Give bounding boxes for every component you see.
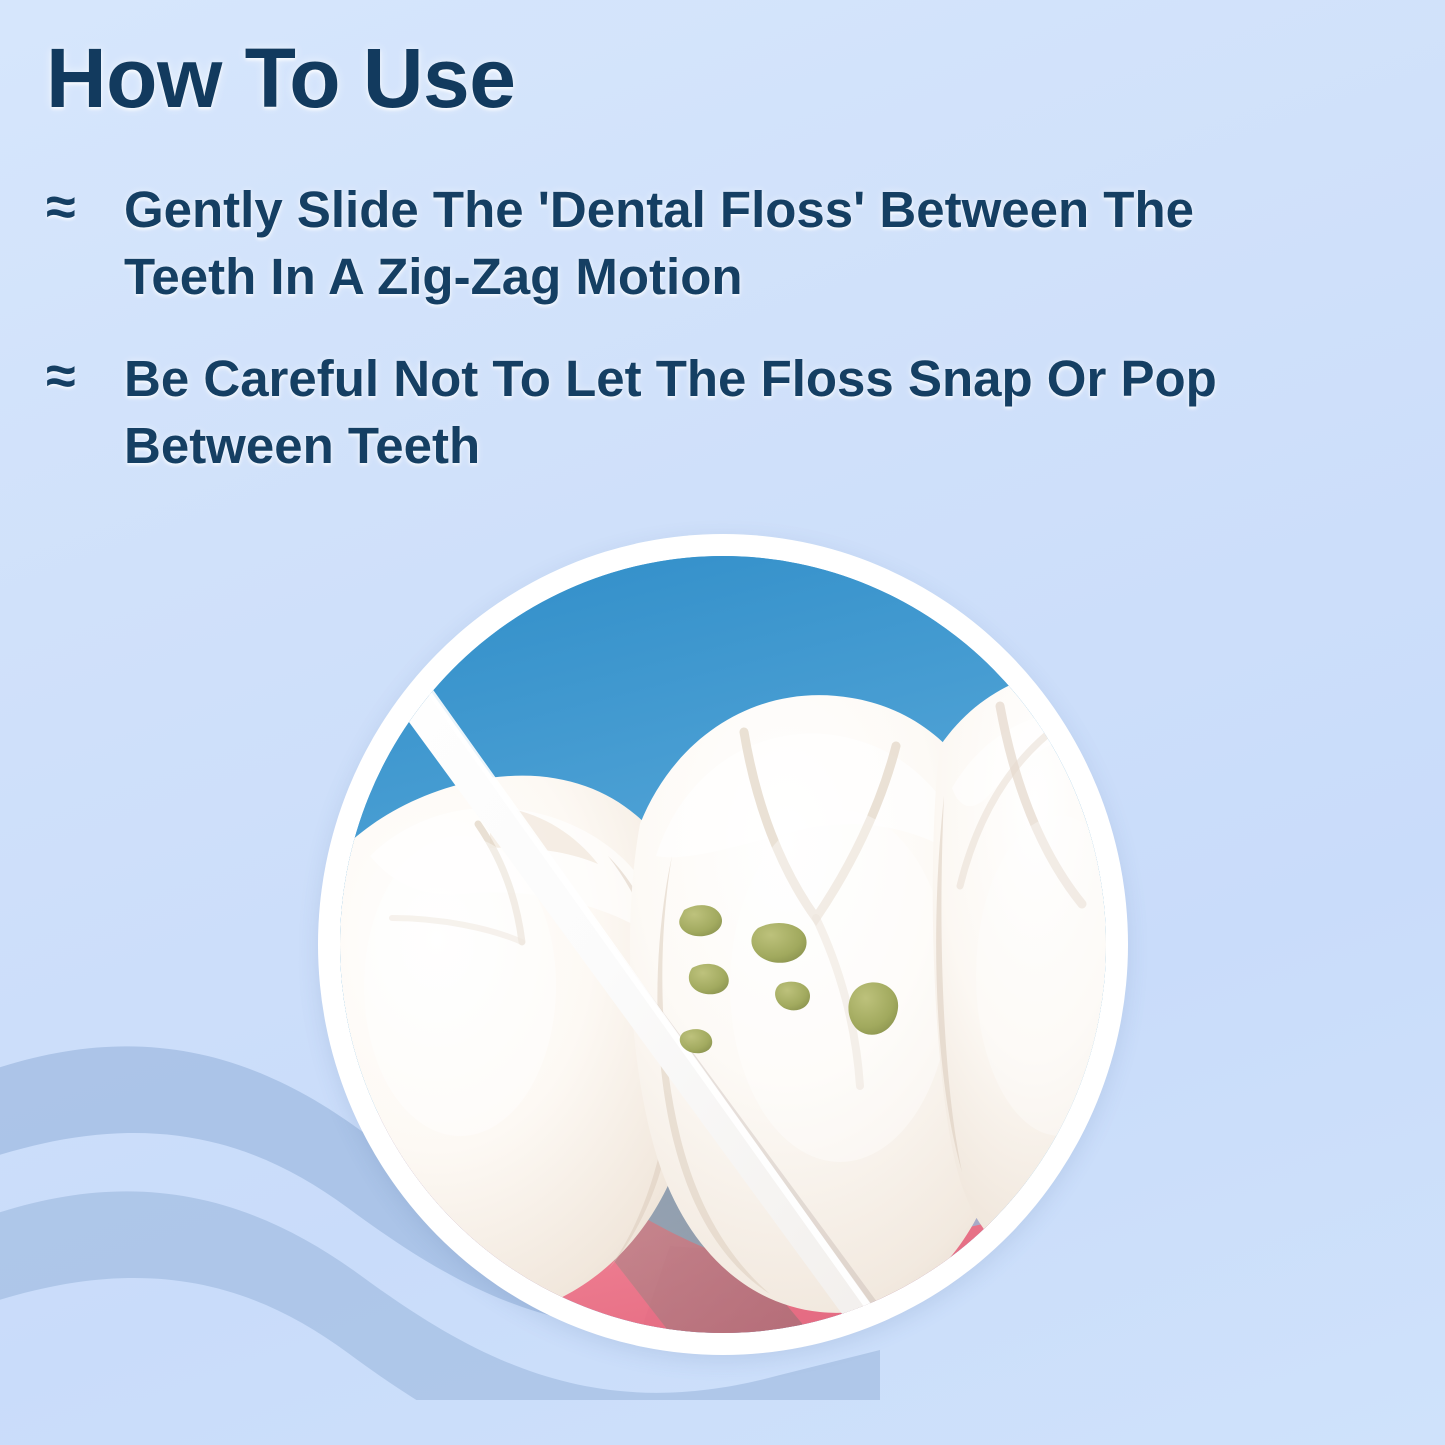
illustration-circle-frame (318, 534, 1128, 1355)
instruction-text: Gently Slide The 'Dental Floss' Between … (124, 176, 1286, 311)
instructions-list: ≈ Gently Slide The 'Dental Floss' Betwee… (46, 176, 1286, 513)
wave-bullet-icon: ≈ (46, 345, 124, 409)
poster-canvas: How To Use ≈ Gently Slide The 'Dental Fl… (0, 0, 1445, 1445)
illustration-image (340, 556, 1106, 1333)
page-title: How To Use (46, 36, 515, 120)
list-item: ≈ Gently Slide The 'Dental Floss' Betwee… (46, 176, 1286, 311)
instruction-text: Be Careful Not To Let The Floss Snap Or … (124, 345, 1286, 480)
list-item: ≈ Be Careful Not To Let The Floss Snap O… (46, 345, 1286, 480)
wave-bullet-icon: ≈ (46, 176, 124, 240)
